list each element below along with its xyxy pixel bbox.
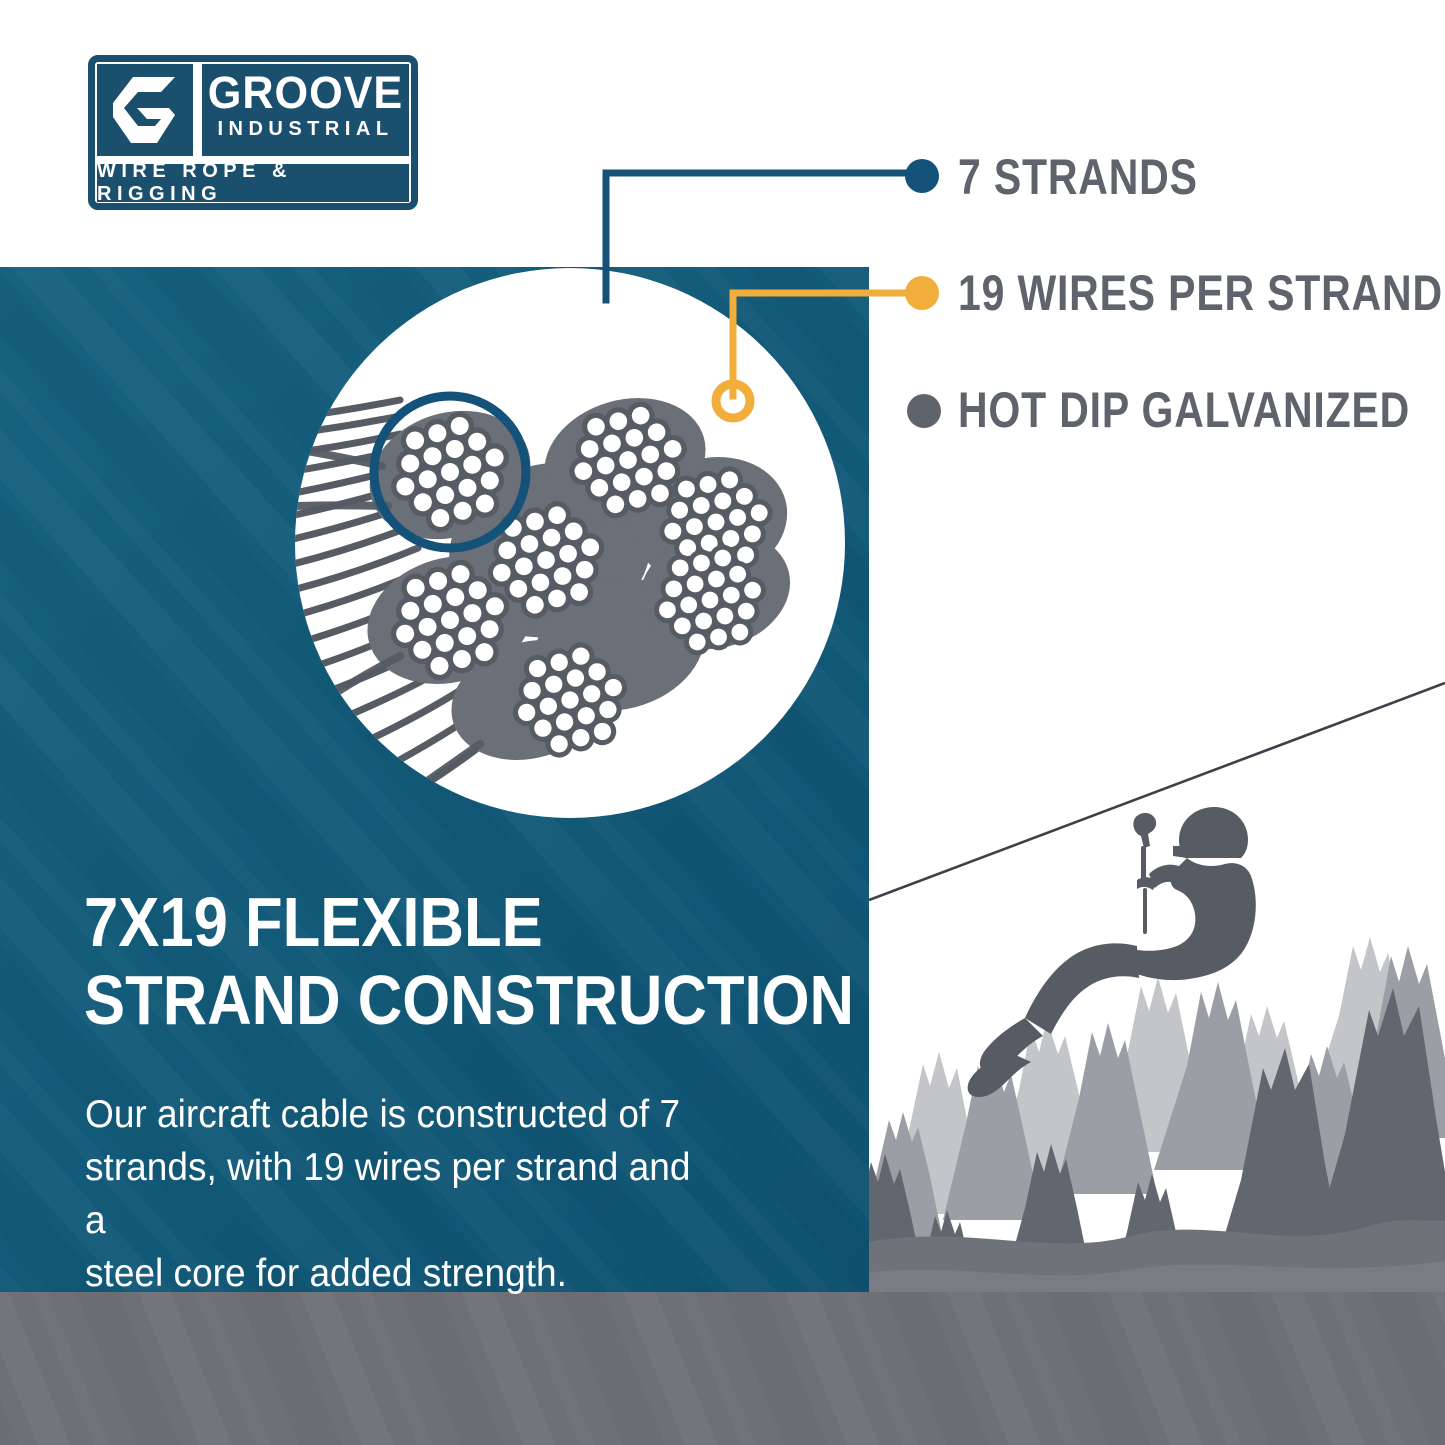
headline-line-2: STRAND CONSTRUCTION xyxy=(84,961,753,1039)
callout-dot-wires xyxy=(905,276,939,310)
callout-label-wires: 19 WIRES PER STRAND xyxy=(958,268,1443,318)
body-line-3: steel core for added strength. xyxy=(85,1247,712,1300)
callout-dot-strands xyxy=(905,159,939,193)
logo-tagline: WIRE ROPE & RIGGING xyxy=(97,164,409,202)
logo-wordmark: GROOVE xyxy=(206,68,405,118)
body-line-1: Our aircraft cable is constructed of 7 xyxy=(85,1088,712,1141)
callout-label-galvanized: HOT DIP GALVANIZED xyxy=(958,385,1410,435)
logo-word-box: GROOVE INDUSTRIAL xyxy=(202,64,409,156)
bottom-gray-bar xyxy=(0,1292,1445,1445)
groove-g-hexagon-icon xyxy=(111,75,179,145)
infographic-canvas: 7 STRANDS 19 WIRES PER STRAND HOT DIP GA… xyxy=(0,0,1445,1445)
bottom-bar-stripes xyxy=(0,1292,1445,1445)
logo-submark: INDUSTRIAL xyxy=(202,118,409,140)
brand-logo[interactable]: GROOVE INDUSTRIAL WIRE ROPE & RIGGING xyxy=(88,55,418,210)
callout-label-strands: 7 STRANDS xyxy=(958,152,1198,202)
callout-dot-galvanized xyxy=(907,394,941,428)
description-text: Our aircraft cable is constructed of 7 s… xyxy=(85,1088,712,1300)
page-title: 7X19 FLEXIBLE STRAND CONSTRUCTION xyxy=(84,883,753,1039)
connector-line-wires xyxy=(733,293,916,396)
body-line-2: strands, with 19 wires per strand and a xyxy=(85,1141,712,1247)
logo-inner: GROOVE INDUSTRIAL WIRE ROPE & RIGGING xyxy=(97,64,409,201)
zipline-photo xyxy=(869,660,1445,1292)
connector-line-strands xyxy=(606,173,916,300)
logo-mark-box xyxy=(97,64,193,156)
headline-line-1: 7X19 FLEXIBLE xyxy=(84,883,753,961)
logo-divider xyxy=(193,64,202,156)
logo-top-row: GROOVE INDUSTRIAL xyxy=(97,64,409,156)
